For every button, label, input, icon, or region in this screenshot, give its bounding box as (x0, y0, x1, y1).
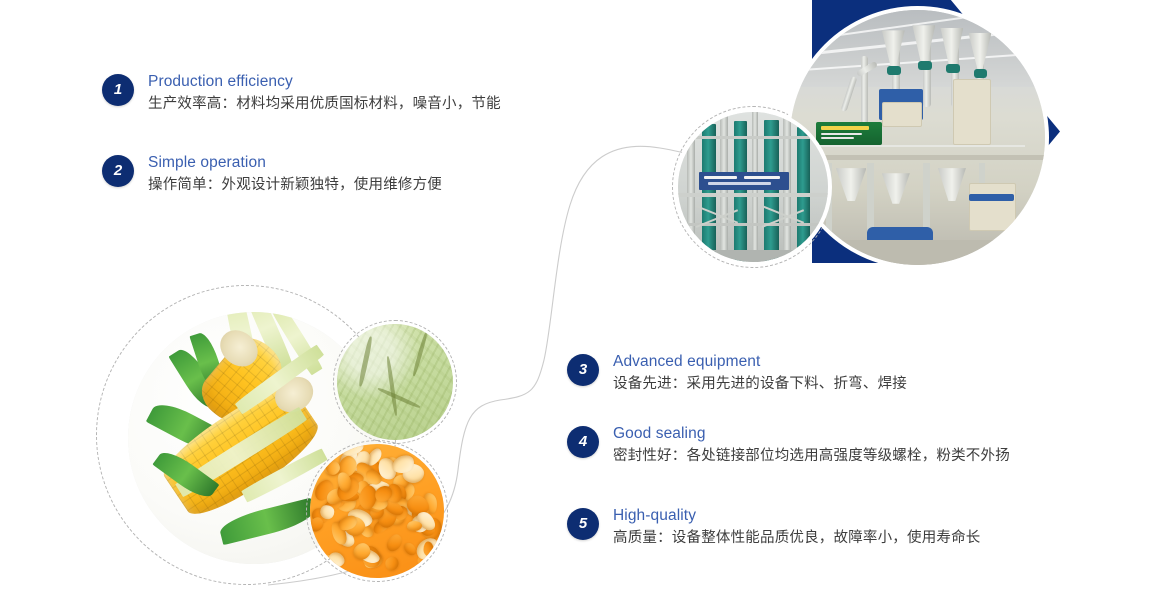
feature-item-2: 2 Simple operation 操作简单：外观设计新颖独特，使用维修方便 (102, 153, 442, 196)
feature-badge-1: 1 (102, 74, 134, 106)
feature-text-2: Simple operation 操作简单：外观设计新颖独特，使用维修方便 (148, 153, 442, 196)
feature-desc-4: 密封性好：各处链接部位均选用高强度等级螺栓，粉类不外扬 (613, 445, 1010, 467)
feature-item-3: 3 Advanced equipment 设备先进：采用先进的设备下料、折弯、焊… (567, 352, 907, 395)
mill-large-photo (790, 10, 1045, 265)
mill-small-photo (678, 112, 828, 262)
feature-item-4: 4 Good sealing 密封性好：各处链接部位均选用高强度等级螺栓，粉类不… (567, 424, 1010, 467)
feature-desc-1: 生产效率高：材料均采用优质国标材料，噪音小，节能 (148, 93, 501, 115)
feature-title-5: High-quality (613, 506, 981, 526)
feature-item-1: 1 Production efficiency 生产效率高：材料均采用优质国标材… (102, 72, 501, 115)
feature-title-4: Good sealing (613, 424, 1010, 444)
feature-title-1: Production efficiency (148, 72, 501, 92)
feature-badge-5: 5 (567, 508, 599, 540)
feature-badge-2: 2 (102, 155, 134, 187)
feature-badge-3: 3 (567, 354, 599, 386)
feature-text-5: High-quality 高质量：设备整体性能品质优良，故障率小，使用寿命长 (613, 506, 981, 549)
infographic-canvas: 1 Production efficiency 生产效率高：材料均采用优质国标材… (0, 0, 1154, 591)
feature-title-2: Simple operation (148, 153, 442, 173)
corn-kernels-photo (310, 444, 444, 578)
feature-desc-2: 操作简单：外观设计新颖独特，使用维修方便 (148, 174, 442, 196)
feature-text-4: Good sealing 密封性好：各处链接部位均选用高强度等级螺栓，粉类不外扬 (613, 424, 1010, 467)
corn-paste-photo (337, 324, 453, 440)
feature-badge-4: 4 (567, 426, 599, 458)
feature-title-3: Advanced equipment (613, 352, 907, 372)
feature-text-1: Production efficiency 生产效率高：材料均采用优质国标材料，… (148, 72, 501, 115)
feature-desc-3: 设备先进：采用先进的设备下料、折弯、焊接 (613, 373, 907, 395)
feature-desc-5: 高质量：设备整体性能品质优良，故障率小，使用寿命长 (613, 527, 981, 549)
feature-text-3: Advanced equipment 设备先进：采用先进的设备下料、折弯、焊接 (613, 352, 907, 395)
feature-item-5: 5 High-quality 高质量：设备整体性能品质优良，故障率小，使用寿命长 (567, 506, 981, 549)
